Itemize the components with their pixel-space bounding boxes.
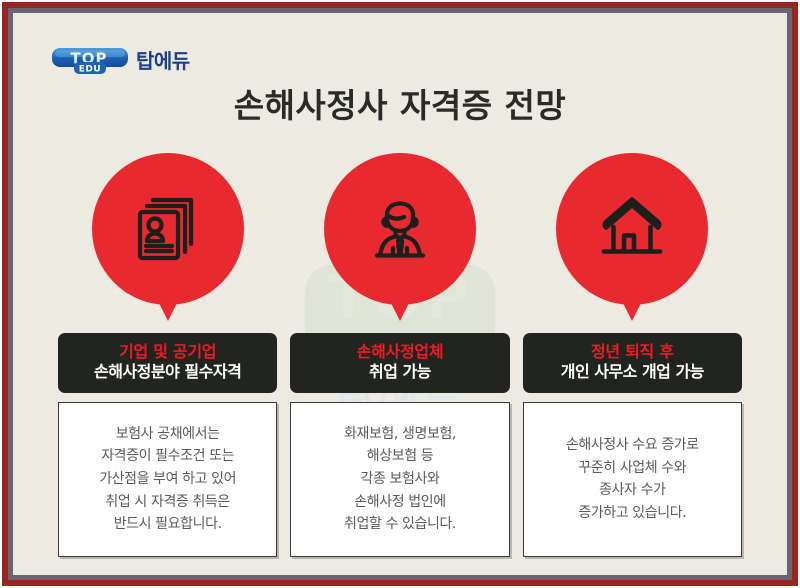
icon-bubble-1: [92, 153, 244, 305]
label-main-2: 취업 가능: [296, 362, 503, 382]
logo-badge-icon: TOP EDU: [51, 46, 129, 76]
label-accent-1: 기업 및 공기업: [64, 342, 271, 362]
columns-container: 기업 및 공기업 손해사정분야 필수자격 보험사 공채에서는 자격증이 필수조건…: [58, 153, 742, 557]
infographic-poster: TOP EDU 탑에듀: [0, 0, 800, 588]
body-text-2: 화재보험, 생명보험, 해상보험 등 각종 보험사와 손해사정 법인에 취업할 …: [344, 423, 456, 536]
poster-canvas: TOP EDU 탑에듀: [13, 13, 787, 575]
body-card-3: 손해사정사 수요 증가로 꾸준히 사업체 수와 종사자 수가 증가하고 있습니다…: [523, 402, 742, 557]
label-main-1: 손해사정분야 필수자격: [64, 362, 271, 382]
id-cards-icon: [125, 186, 211, 272]
body-text-1: 보험사 공채에서는 자격증이 필수조건 또는 가산점을 부여 하고 있어 취업 …: [99, 423, 236, 536]
icon-bubble-2: [324, 153, 476, 305]
page-title: 손해사정사 자격증 전망: [13, 79, 787, 127]
label-main-3: 개인 사무소 개업 가능: [529, 362, 736, 382]
svg-text:EDU: EDU: [79, 65, 101, 75]
column-own-office: 정년 퇴직 후 개인 사무소 개업 가능 손해사정사 수요 증가로 꾸준히 사업…: [523, 153, 742, 557]
logo-brand-name: 탑에듀: [136, 51, 190, 71]
column-adjuster-firm: 손해사정업체 취업 가능 화재보험, 생명보험, 해상보험 등 각종 보험사와 …: [290, 153, 509, 557]
icon-bubble-3: [556, 153, 708, 305]
bubble-wrap-2: [290, 153, 509, 321]
body-card-1: 보험사 공채에서는 자격증이 필수조건 또는 가산점을 부여 하고 있어 취업 …: [58, 402, 277, 557]
body-card-2: 화재보험, 생명보험, 해상보험 등 각종 보험사와 손해사정 법인에 취업할 …: [290, 402, 509, 557]
bubble-wrap-1: [58, 153, 277, 321]
businessman-icon: [357, 186, 443, 272]
label-accent-2: 손해사정업체: [296, 342, 503, 362]
inner-frame: TOP EDU 탑에듀: [8, 8, 792, 580]
brand-logo: TOP EDU 탑에듀: [51, 46, 190, 76]
label-accent-3: 정년 퇴직 후: [529, 342, 736, 362]
bubble-wrap-3: [523, 153, 742, 321]
outer-frame: TOP EDU 탑에듀: [2, 2, 798, 586]
label-card-3: 정년 퇴직 후 개인 사무소 개업 가능: [523, 333, 742, 393]
body-text-3: 손해사정사 수요 증가로 꾸준히 사업체 수와 종사자 수가 증가하고 있습니다…: [566, 434, 699, 525]
column-corporate: 기업 및 공기업 손해사정분야 필수자격 보험사 공채에서는 자격증이 필수조건…: [58, 153, 277, 557]
house-icon: [589, 186, 675, 272]
label-card-1: 기업 및 공기업 손해사정분야 필수자격: [58, 333, 277, 393]
label-card-2: 손해사정업체 취업 가능: [290, 333, 509, 393]
